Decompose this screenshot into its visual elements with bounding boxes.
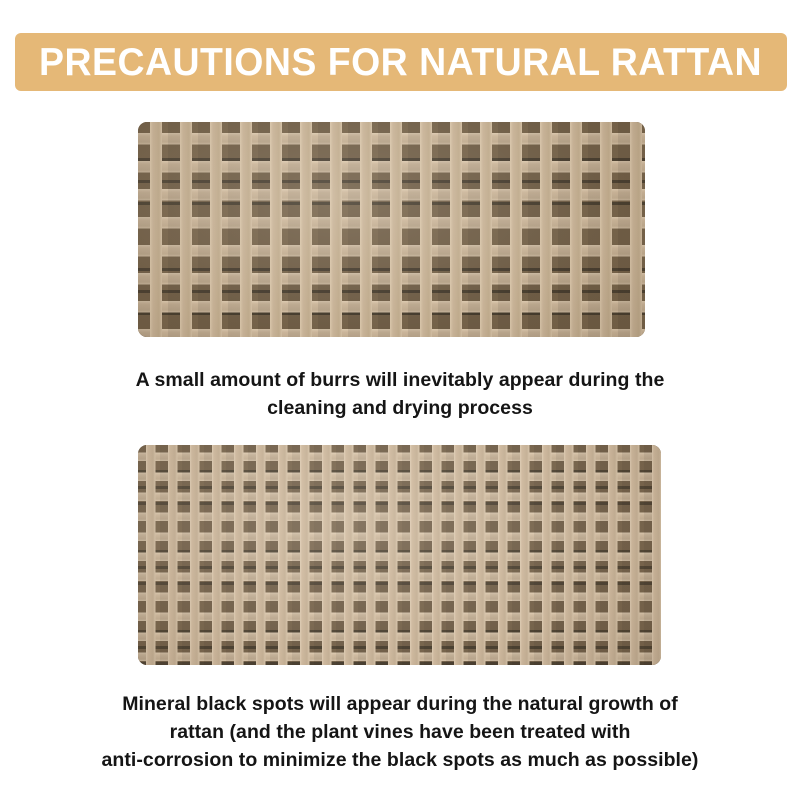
caption-line: anti-corrosion to minimize the black spo… bbox=[0, 746, 800, 774]
caption-line: Mineral black spots will appear during t… bbox=[0, 690, 800, 718]
caption-burrs: A small amount of burrs will inevitably … bbox=[0, 366, 800, 422]
weave-texture bbox=[138, 445, 661, 665]
caption-line: cleaning and drying process bbox=[0, 394, 800, 422]
rattan-weave-coarse-image bbox=[138, 122, 645, 337]
weave-texture bbox=[138, 122, 645, 337]
caption-line: A small amount of burrs will inevitably … bbox=[0, 366, 800, 394]
weave-vertical-strips bbox=[138, 445, 661, 665]
weave-vertical-strips bbox=[138, 122, 645, 337]
rattan-weave-fine-image bbox=[138, 445, 661, 665]
page-title-banner: PRECAUTIONS FOR NATURAL RATTAN bbox=[15, 33, 787, 91]
caption-line: rattan (and the plant vines have been tr… bbox=[0, 718, 800, 746]
page-title: PRECAUTIONS FOR NATURAL RATTAN bbox=[40, 43, 763, 82]
caption-black-spots: Mineral black spots will appear during t… bbox=[0, 690, 800, 774]
